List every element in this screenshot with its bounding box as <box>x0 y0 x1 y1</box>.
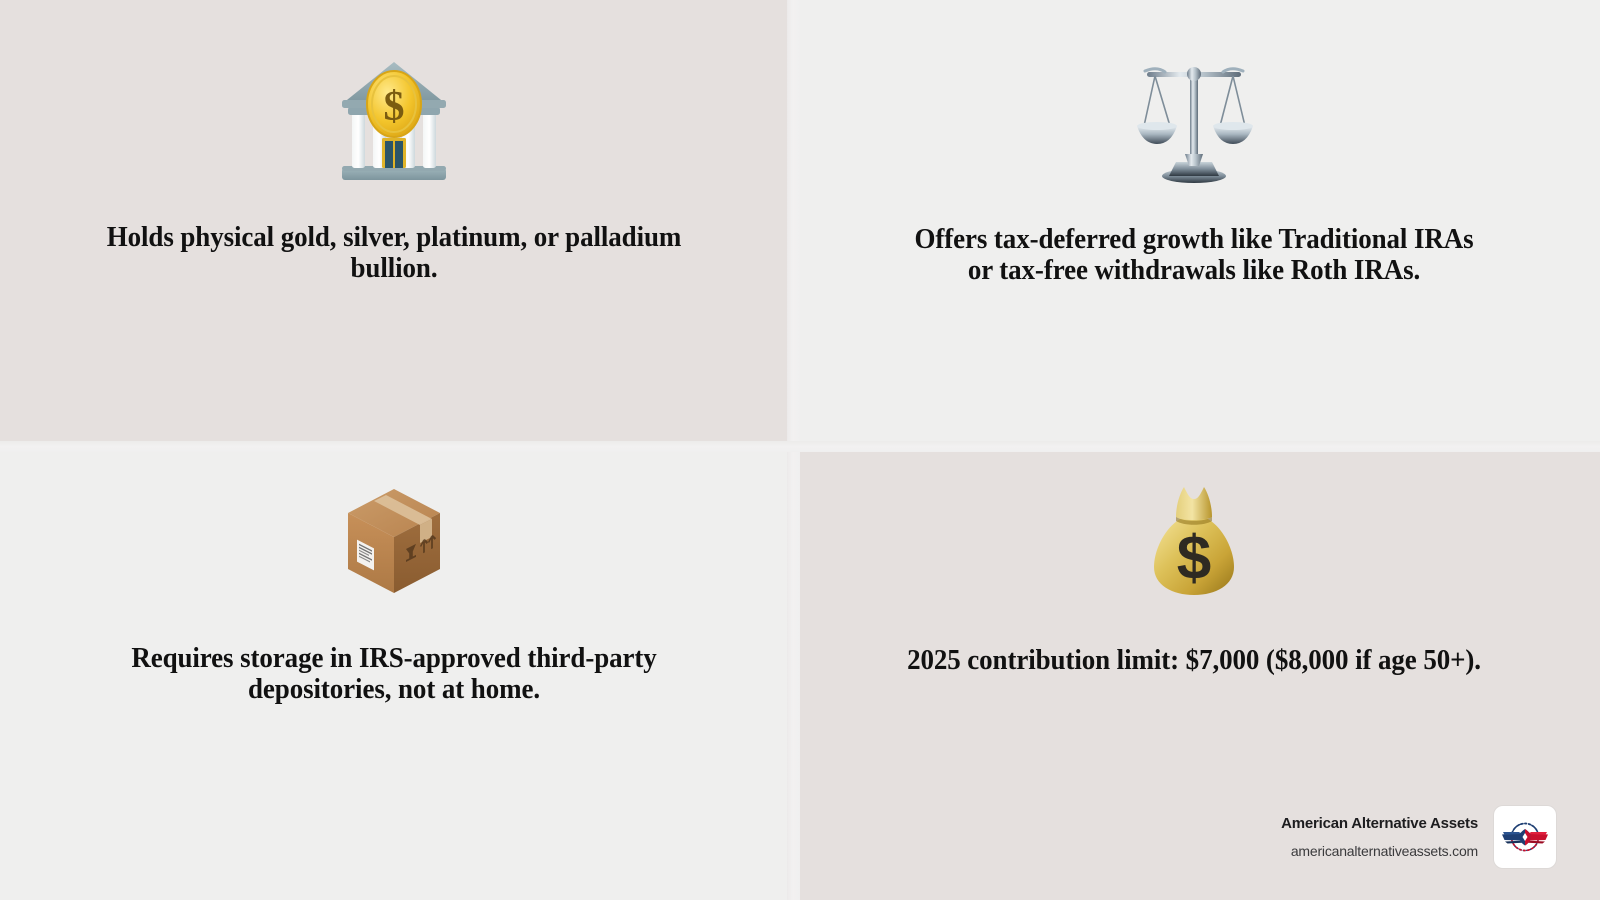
branding-block: American Alternative Assets americanalte… <box>1281 806 1556 868</box>
balance-scale-emoji <box>1135 58 1253 184</box>
bank-emoji: $ <box>338 60 450 184</box>
card-text: Requires storage in IRS-approved third-p… <box>105 643 682 705</box>
american-alternative-assets-eagle-logo <box>1494 806 1556 868</box>
package-box-emoji <box>340 483 448 599</box>
company-name: American Alternative Assets <box>1281 815 1478 832</box>
infographic-canvas: $ Holds physical gold, silver, platinum,… <box>0 0 1600 900</box>
quadrant-grid: $ Holds physical gold, silver, platinum,… <box>0 0 1600 900</box>
card-tax-treatment: Offers tax-deferred growth like Traditio… <box>787 0 1600 441</box>
branding-text: American Alternative Assets americanalte… <box>1281 815 1478 859</box>
card-text: Offers tax-deferred growth like Traditio… <box>905 224 1482 286</box>
card-text: Holds physical gold, silver, platinum, o… <box>105 222 682 284</box>
card-gold-holdings: $ Holds physical gold, silver, platinum,… <box>0 0 787 441</box>
card-contribution-limit: $ 2025 contribution limit: $7,000 ($8,00… <box>787 441 1600 900</box>
svg-text:$: $ <box>383 84 404 130</box>
svg-text:$: $ <box>1176 524 1210 593</box>
card-storage-requirement: Requires storage in IRS-approved third-p… <box>0 441 787 900</box>
money-bag-emoji: $ <box>1144 483 1244 599</box>
card-text: 2025 contribution limit: $7,000 ($8,000 … <box>905 645 1482 676</box>
company-website[interactable]: americanalternativeassets.com <box>1281 843 1478 859</box>
